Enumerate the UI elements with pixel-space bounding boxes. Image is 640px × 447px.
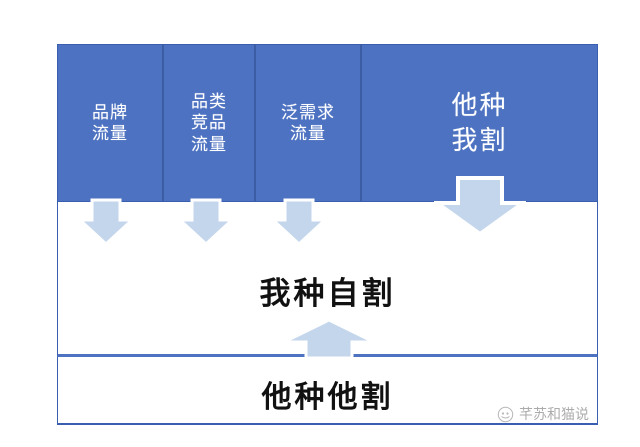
segment-general-demand-traffic-label: 泛需求 流量 xyxy=(281,102,335,145)
segment-category-competitor-traffic-label: 品类 竞品 流量 xyxy=(191,91,227,155)
up-arrow-others-harvest-icon xyxy=(282,318,376,360)
down-arrow-category-icon xyxy=(178,198,234,246)
segment-general-demand-traffic[interactable]: 泛需求 流量 xyxy=(256,45,362,201)
chat-bubble-icon xyxy=(497,406,514,423)
segment-brand-traffic-label: 品牌 流量 xyxy=(92,102,128,145)
segment-category-competitor-traffic[interactable]: 品类 竞品 流量 xyxy=(164,45,256,201)
segment-others-plant-i-harvest-label: 他种 我割 xyxy=(451,88,507,158)
down-arrow-brand-icon xyxy=(78,198,134,246)
bottom-band-label: 他种他割 xyxy=(262,372,394,416)
segment-brand-traffic[interactable]: 品牌 流量 xyxy=(58,45,164,201)
down-arrow-demand-icon xyxy=(271,198,327,246)
down-arrow-others-plant-icon xyxy=(434,175,526,237)
diagram-canvas: 品牌 流量 品类 竞品 流量 泛需求 流量 他种 我割 我种自割 他种他割 xyxy=(0,0,640,447)
watermark-text: 芊苏和猫说 xyxy=(519,404,589,424)
watermark: 芊苏和猫说 xyxy=(497,404,589,424)
middle-band-label: 我种自割 xyxy=(260,268,396,313)
